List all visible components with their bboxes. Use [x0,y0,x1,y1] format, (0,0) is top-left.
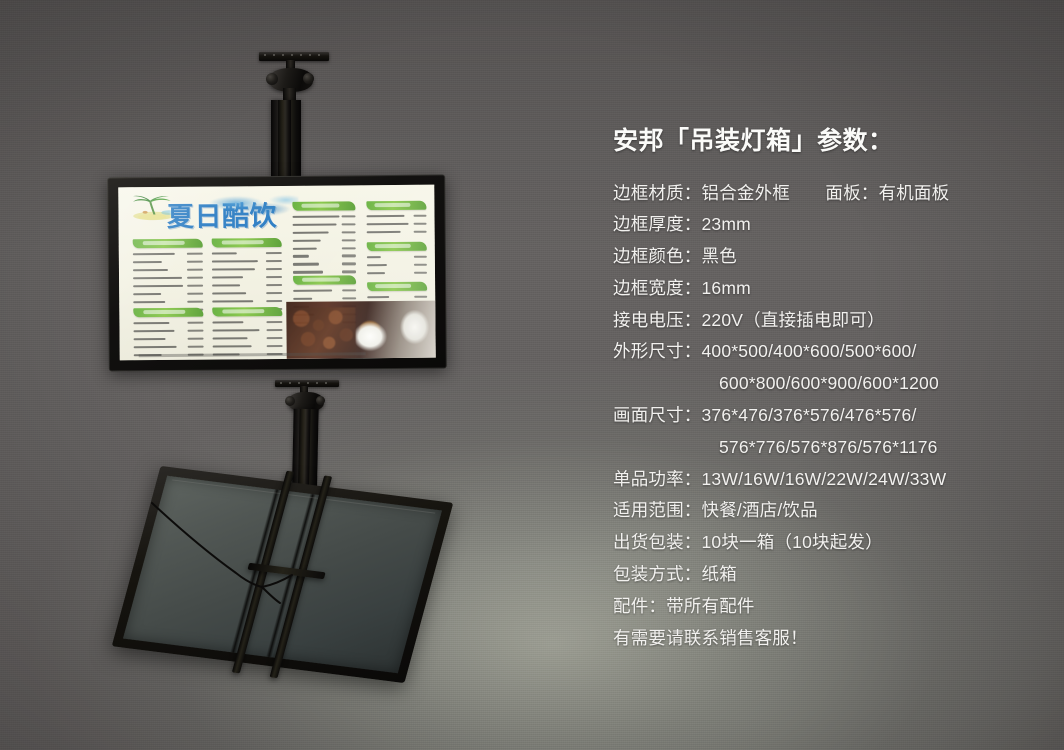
spec-line: 边框宽度：16mm [613,273,1043,305]
menu-row [212,250,282,257]
menu-section-header [367,282,427,292]
menu-row [134,336,204,343]
mount-pole-upper [271,100,301,178]
menu-row [133,282,203,289]
product-spec-image: 夏日酷饮 [0,0,1064,750]
menu-section-rows [134,320,204,359]
menu-section-header [213,307,283,317]
lightbox-display-face: 夏日酷饮 [118,185,435,361]
menu-section-rows [212,250,282,313]
spec-line: 边框颜色：黑色 [613,241,1043,273]
menu-row [134,320,204,327]
menu-row [293,261,356,268]
mount-plate-screws-upper [264,54,324,56]
menu-row [367,270,427,277]
menu-row [133,298,203,305]
menu-row [292,213,355,220]
menu-row [134,328,204,335]
menu-poster-title-block: 夏日酷饮 [131,191,302,237]
menu-section-rows [367,294,427,301]
spec-line: 边框厚度：23mm [613,209,1043,241]
menu-poster: 夏日酷饮 [118,185,435,361]
menu-section-7 [366,200,426,236]
menu-row [293,287,356,294]
menu-row [212,274,282,281]
menu-row [213,327,283,334]
menu-row [212,266,282,273]
menu-section-4 [213,307,283,360]
menu-row [213,343,283,350]
menu-row [367,228,427,235]
water-splash-graphic [209,191,298,227]
menu-row [134,344,204,351]
menu-row [293,245,356,252]
menu-section-3 [134,308,204,361]
menu-row [212,290,282,297]
spec-line-list: 边框材质：铝合金外框 面板：有机面板 边框厚度：23mm 边框颜色：黑色 边框宽… [613,178,1043,655]
menu-section-5 [292,201,356,277]
menu-row [292,221,355,228]
spec-line-continuation: 600*800/600*900/600*1200 [613,368,1043,400]
menu-row [133,251,203,258]
mount-knob-right-upper [303,73,314,84]
menu-row [292,229,355,236]
menu-section-header [292,201,355,211]
menu-section-rows [367,254,427,277]
menu-section-rows [133,251,203,314]
spec-line: 出货包装：10块一箱（10块起发） [613,527,1043,559]
menu-section-header [212,238,282,248]
menu-row [133,267,203,274]
spec-line: 外形尺寸：400*500/400*600/500*600/ [613,336,1043,368]
menu-row [212,298,282,305]
spec-line: 适用范围：快餐/酒店/饮品 [613,495,1043,527]
spec-line: 配件：带所有配件 [613,591,1043,623]
menu-section-9 [367,282,427,303]
coffee-photo [287,301,436,359]
menu-section-1 [133,239,203,315]
lightbox-front-unit: 夏日酷饮 [107,175,447,372]
power-cable [150,495,330,605]
coffee-beans-image [290,307,356,357]
spec-line: 画面尺寸：376*476/376*576/476*576/ [613,400,1043,432]
page-title: 安邦「吊装灯箱」参数： [613,128,1043,156]
menu-row [212,258,282,265]
menu-row [367,220,427,227]
spec-line: 包装方式：纸箱 [613,559,1043,591]
menu-section-rows [367,212,427,235]
menu-row [133,274,203,281]
spec-line: 接电电压：220V（直接插电即可） [613,305,1043,337]
spec-line: 单品功率：13W/16W/16W/22W/24W/33W [613,464,1043,496]
menu-row [133,290,203,297]
menu-section-header [367,242,427,252]
menu-section-rows [213,319,283,358]
mount-knob-right-lower [316,396,325,405]
menu-section-header [133,239,203,249]
specification-panel: 安邦「吊装灯箱」参数： 边框材质：铝合金外框 面板：有机面板 边框厚度：23mm… [613,128,1043,654]
menu-row [367,262,427,269]
menu-section-header [366,200,426,210]
mount-plate-screws-lower [280,382,334,384]
menu-row [367,254,427,261]
spec-line: 有需要请联系销售客服！ [613,623,1043,655]
menu-section-rows [292,213,356,276]
menu-section-8 [367,242,427,278]
mount-knob-left-upper [266,73,278,85]
mount-knob-left-lower [285,396,295,406]
menu-section-2 [212,238,282,314]
spec-line-continuation: 576*776/576*876/576*1176 [613,432,1043,464]
spec-line: 边框材质：铝合金外框 面板：有机面板 [613,178,1043,210]
menu-row [133,259,203,266]
menu-row [367,294,427,301]
menu-row [367,212,427,219]
menu-row [292,237,355,244]
menu-row [213,335,283,342]
mount-pole-highlight-upper [278,100,291,178]
menu-row [213,319,283,326]
menu-row [293,253,356,260]
menu-row [212,282,282,289]
menu-section-header [134,308,204,318]
menu-section-header [293,275,356,285]
